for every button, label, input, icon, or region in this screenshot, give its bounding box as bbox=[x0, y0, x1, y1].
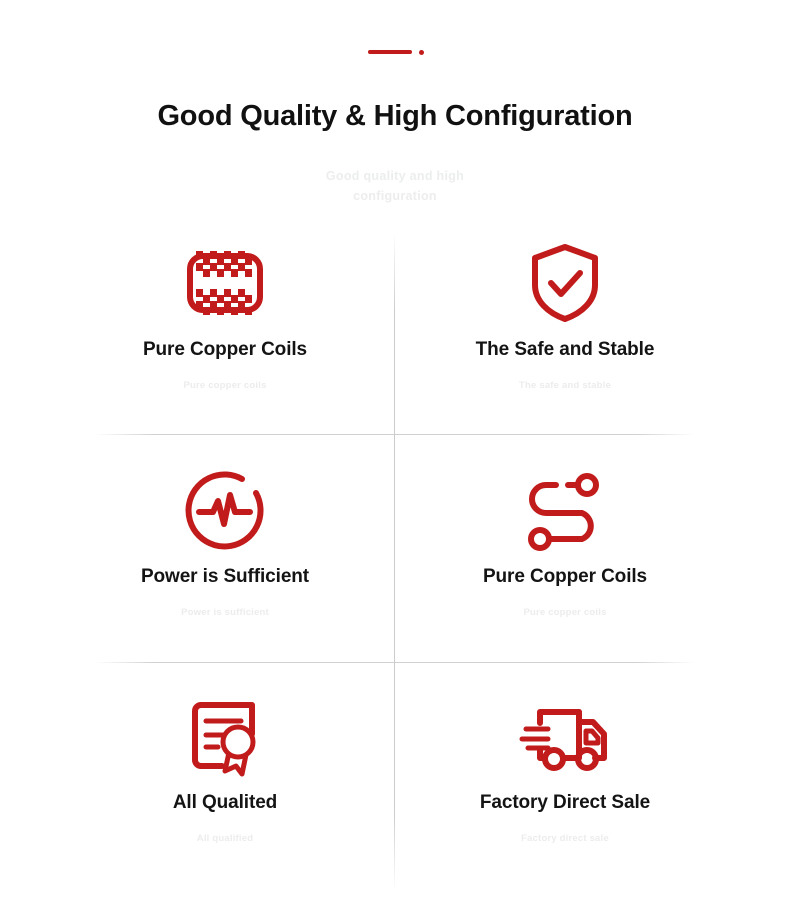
feature-title: Factory Direct Sale bbox=[480, 792, 650, 814]
feature-cell-copper-coils-route: Pure Copper Coils Pure copper coils bbox=[395, 452, 735, 679]
feature-subtitle: Pure copper coils bbox=[183, 380, 266, 391]
shield-check-icon bbox=[527, 235, 603, 331]
feature-grid: Pure Copper Coils Pure copper coils The … bbox=[55, 225, 735, 905]
feature-title: Power is Sufficient bbox=[141, 566, 309, 588]
feature-cell-power-sufficient: Power is Sufficient Power is sufficient bbox=[55, 452, 395, 679]
route-path-icon bbox=[522, 462, 608, 558]
feature-cell-factory-direct-sale: Factory Direct Sale Factory direct sale bbox=[395, 678, 735, 905]
feature-cell-copper-coils: Pure Copper Coils Pure copper coils bbox=[55, 225, 395, 452]
feature-cell-all-qualified: All Qualited All qualified bbox=[55, 678, 395, 905]
feature-subtitle: Power is sufficient bbox=[181, 607, 269, 618]
copper-coil-icon bbox=[179, 235, 271, 331]
delivery-truck-icon bbox=[518, 688, 612, 784]
feature-title: Pure Copper Coils bbox=[143, 339, 307, 361]
page-title: Good Quality & High Configuration bbox=[0, 94, 790, 138]
accent-rule-decoration bbox=[368, 50, 412, 54]
pulse-circle-icon bbox=[183, 462, 267, 558]
feature-title: Pure Copper Coils bbox=[483, 566, 647, 588]
feature-title: The Safe and Stable bbox=[476, 339, 655, 361]
feature-subtitle: The safe and stable bbox=[519, 380, 611, 391]
feature-subtitle: Pure copper coils bbox=[523, 607, 606, 618]
accent-dot-decoration bbox=[419, 50, 424, 55]
feature-subtitle: All qualified bbox=[197, 833, 253, 844]
page-subtitle: Good quality and high configuration bbox=[295, 166, 495, 206]
feature-title: All Qualited bbox=[173, 792, 277, 814]
feature-highlights-page: Good Quality & High Configuration Good q… bbox=[0, 0, 790, 922]
feature-cell-safe-stable: The Safe and Stable The safe and stable bbox=[395, 225, 735, 452]
feature-subtitle: Factory direct sale bbox=[521, 833, 609, 844]
certificate-award-icon bbox=[184, 688, 266, 784]
